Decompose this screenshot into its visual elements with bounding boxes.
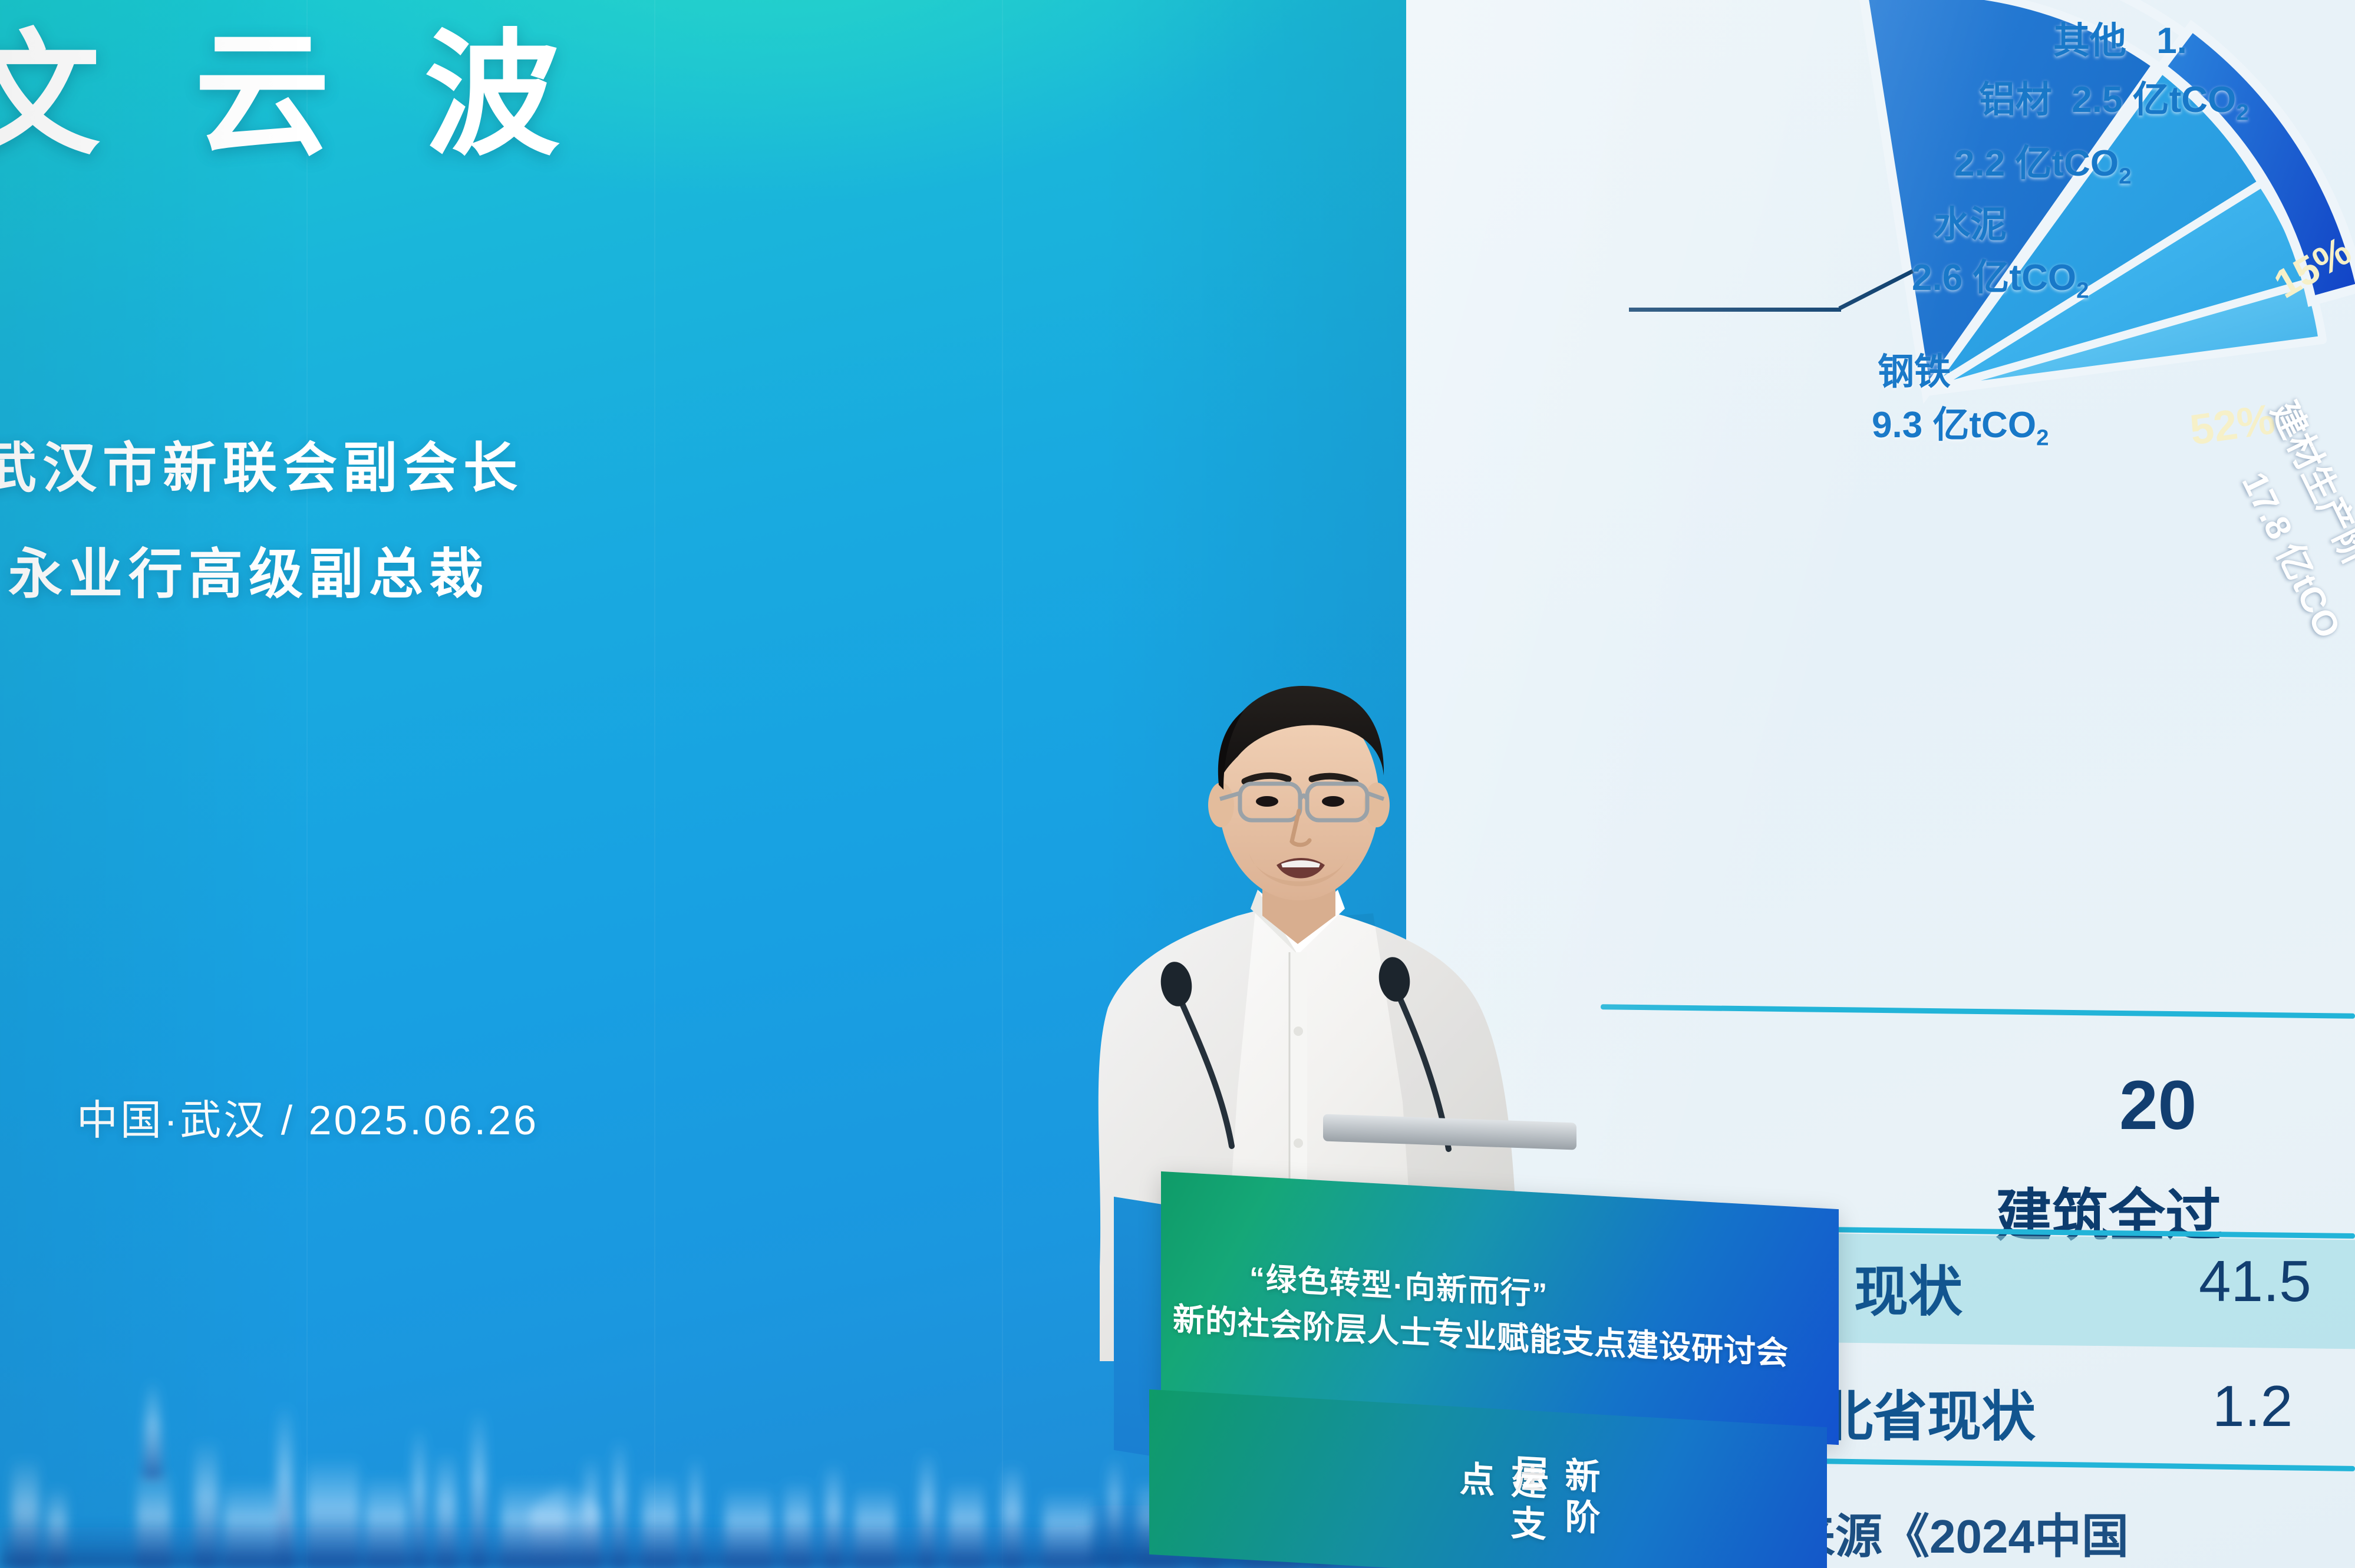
table-row-value-0: 41.5 <box>2199 1248 2311 1315</box>
lectern: “绿色转型·向新而行” 新的社会阶层人士专业赋能支点建设研讨会 建支点 新阶层 <box>1114 1131 1839 1568</box>
microphone-left <box>1108 960 1249 1155</box>
speaker-role-line-1: 武汉市新联会副会长 <box>0 424 523 503</box>
table-row-value-1: 1.2 <box>2212 1373 2293 1440</box>
divider-top <box>1601 1004 2355 1019</box>
pie-label-secondary-amount: 2.2 亿tCO2 <box>1954 133 2131 189</box>
pie-label-cement-amount: 2.6 亿tCO2 <box>1912 247 2089 303</box>
pie-label-steel-amount: 9.3 亿tCO2 <box>1872 395 2049 451</box>
led-panel-seam <box>654 0 655 1568</box>
pie-label-steel-name: 钢铁 <box>1878 342 1951 395</box>
cement-leader-line <box>1629 308 1841 312</box>
pie-label-aluminium: 铝材 2.5 亿tCO2 <box>1979 70 2249 126</box>
table-row-label-1: 北省现状 <box>1819 1373 2036 1451</box>
place-and-date: 中国·武汉 / 2025.06.26 <box>77 1087 539 1147</box>
conference-photo-scene: 文 云 波 武汉市新联会副会长 永业行高级副总裁 中国·武汉 / 2025.06… <box>0 0 2355 1568</box>
led-panel-seam <box>1002 0 1003 1568</box>
lectern-vertical-text-right: 新阶层 <box>1503 1453 1605 1568</box>
slide-heading-year: 20 <box>2119 1065 2196 1146</box>
pie-label-other: 其他 1. <box>2053 11 2187 64</box>
pie-label-cement-name: 水泥 <box>1934 194 2007 247</box>
speaker-role-line-2: 永业行高级副总裁 <box>8 530 489 609</box>
page-title: 文 云 波 <box>0 18 588 174</box>
table-row-label-0: 现状 <box>1854 1248 1962 1326</box>
led-panel-seam <box>306 0 308 1568</box>
